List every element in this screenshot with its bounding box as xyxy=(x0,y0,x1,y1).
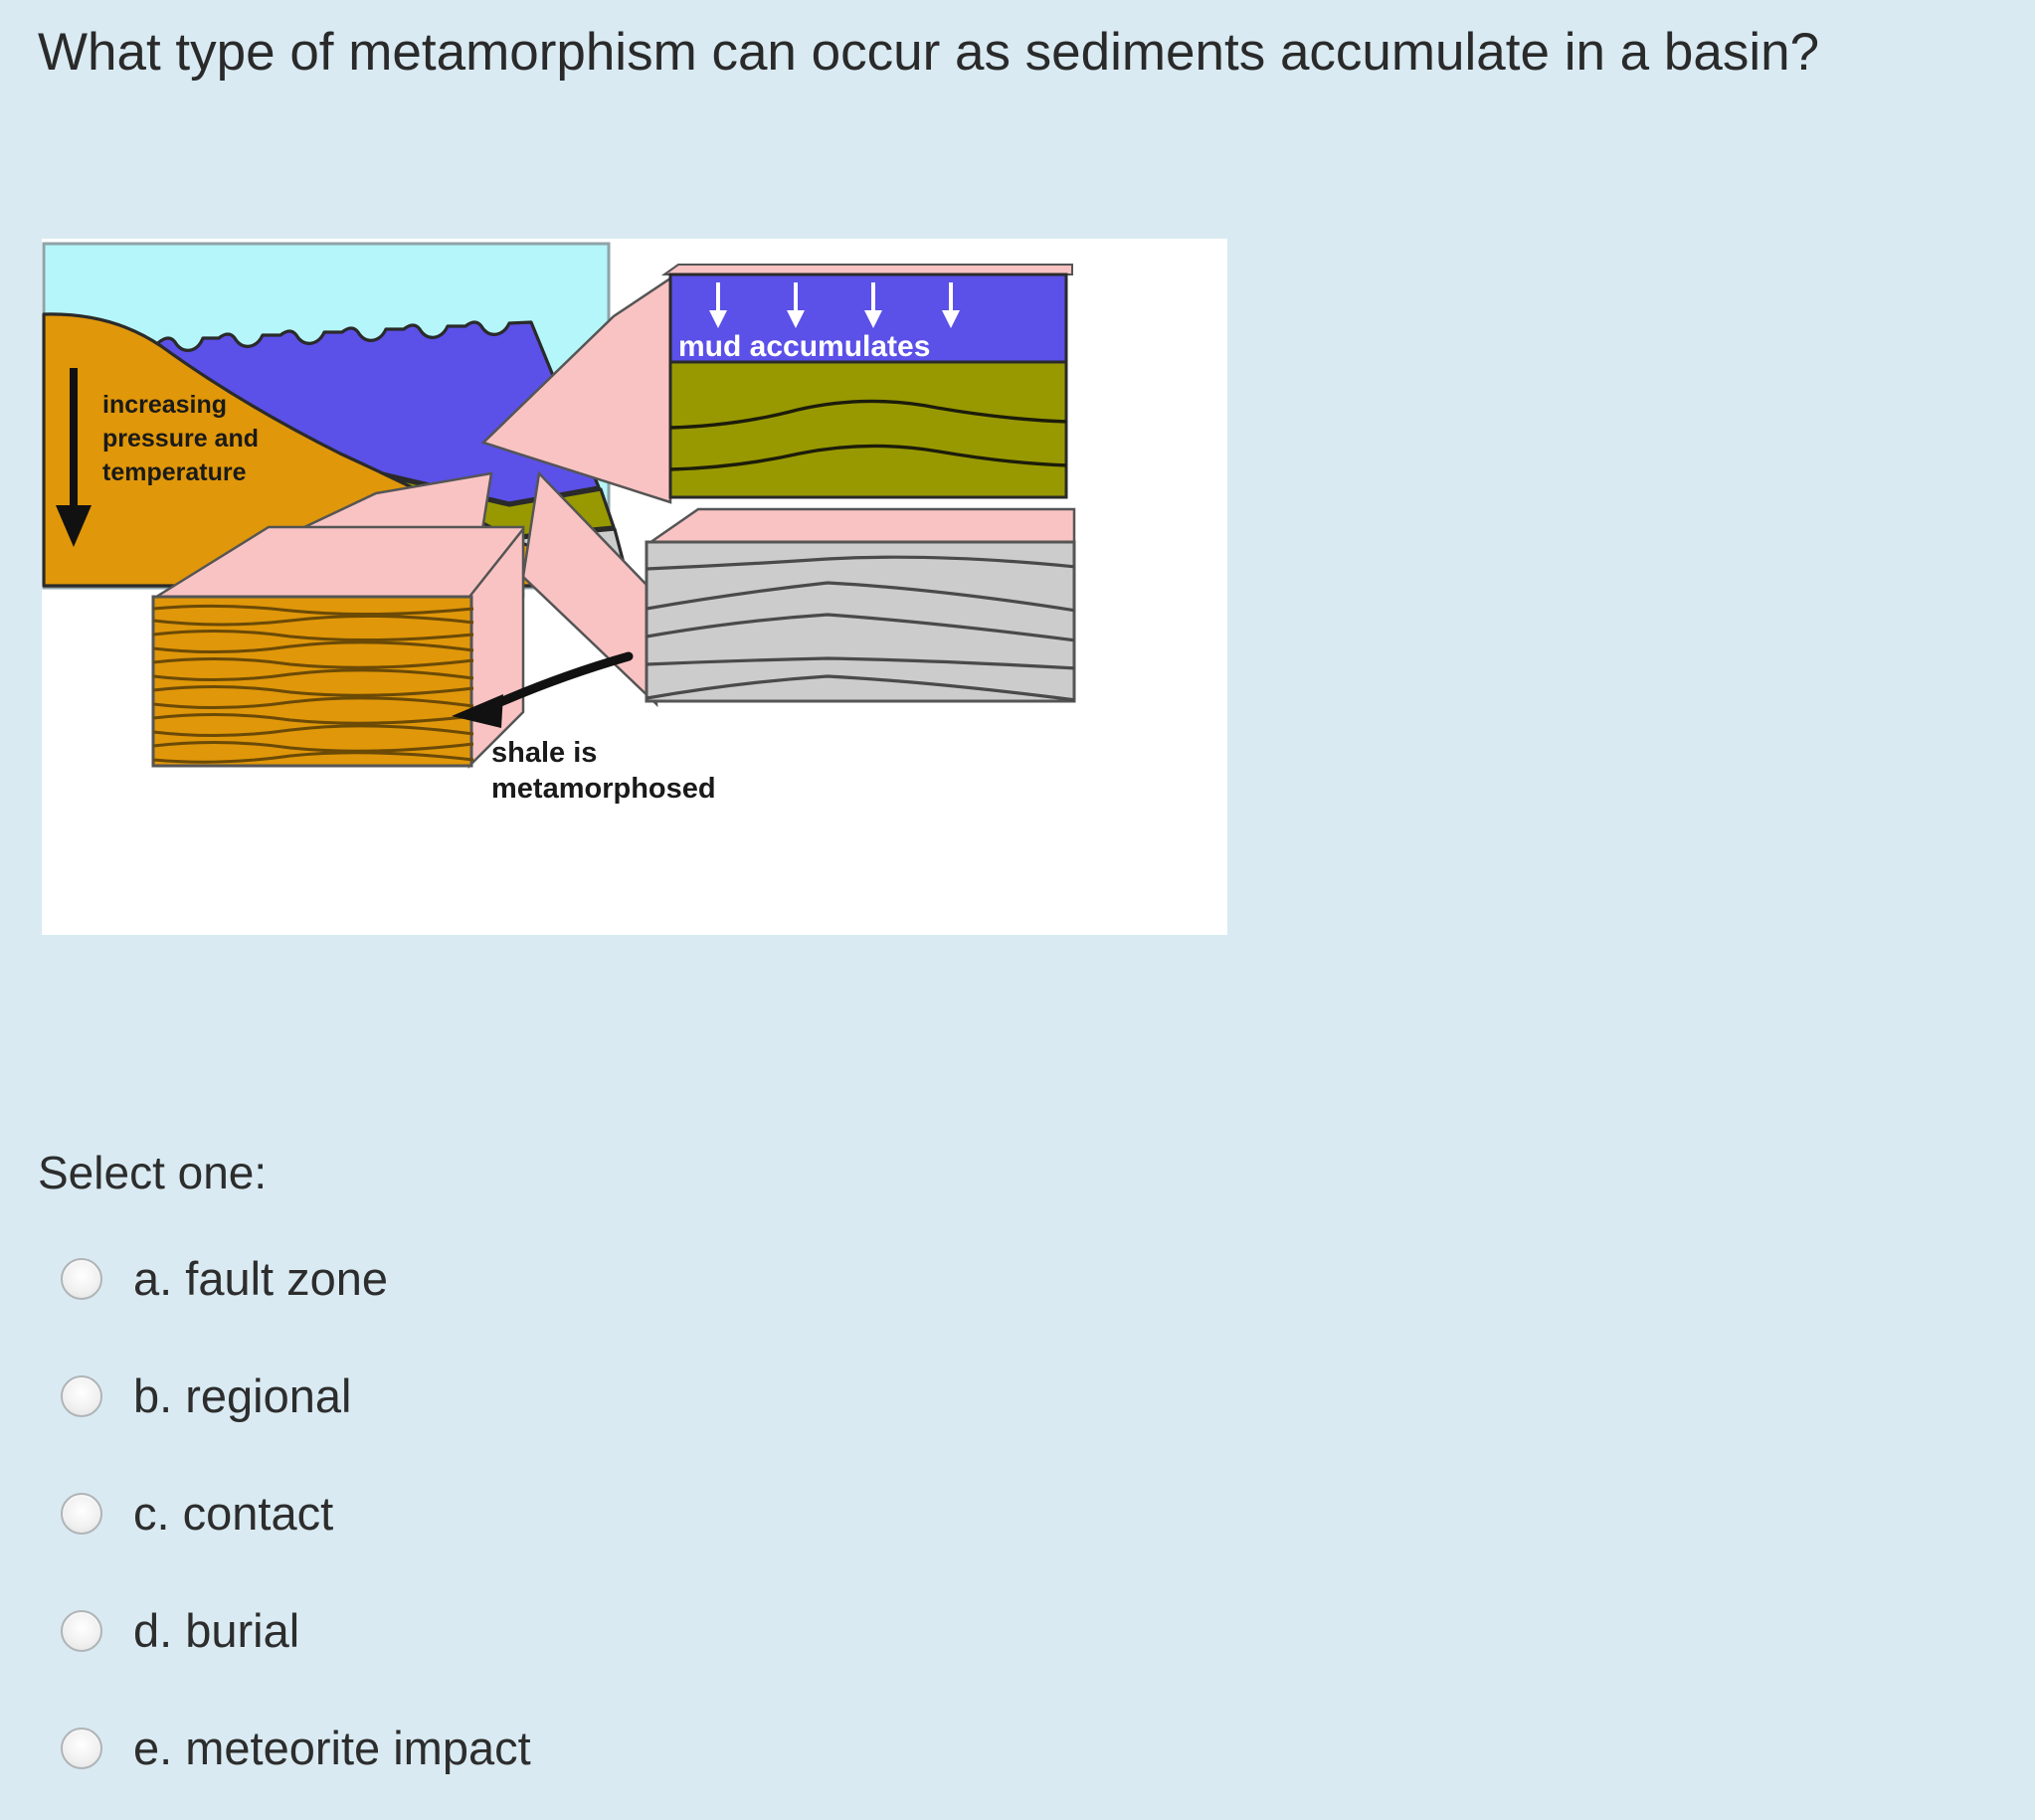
option-row-d[interactable]: d. burial xyxy=(38,1585,1430,1677)
option-row-c[interactable]: c. contact xyxy=(38,1468,1430,1559)
option-label-a[interactable]: a. fault zone xyxy=(133,1253,388,1305)
figure-panel: increasing pressure and temperature xyxy=(42,239,1227,935)
shale-block-top-face xyxy=(647,509,1074,545)
radio-button-a[interactable] xyxy=(61,1258,102,1300)
label-pressure-and: pressure and xyxy=(102,425,259,453)
radio-button-c[interactable] xyxy=(61,1493,102,1535)
option-label-b[interactable]: b. regional xyxy=(133,1370,352,1422)
metamorphic-block-face xyxy=(153,597,471,766)
select-one-label: Select one: xyxy=(38,1146,267,1199)
mud-accumulates-inset: mud accumulates xyxy=(664,265,1072,497)
answer-options-list: a. fault zone b. regional c. contact d. … xyxy=(38,1233,1430,1820)
metamorphosed-block-inset xyxy=(153,527,523,766)
radio-button-b[interactable] xyxy=(61,1375,102,1417)
label-temperature: temperature xyxy=(102,458,247,486)
option-label-d[interactable]: d. burial xyxy=(133,1605,299,1657)
quiz-question-page: What type of metamorphism can occur as s… xyxy=(0,0,2035,1800)
question-text: What type of metamorphism can occur as s… xyxy=(38,22,2007,84)
label-shale-is: shale is xyxy=(491,737,597,769)
label-metamorphosed: metamorphosed xyxy=(491,773,716,805)
label-mud-accumulates: mud accumulates xyxy=(678,330,930,363)
inset-mud-block xyxy=(670,362,1066,497)
burial-metamorphism-diagram: increasing pressure and temperature xyxy=(42,239,1227,935)
radio-button-e[interactable] xyxy=(61,1728,102,1769)
option-row-a[interactable]: a. fault zone xyxy=(38,1233,1430,1325)
label-increasing: increasing xyxy=(102,391,227,419)
option-row-b[interactable]: b. regional xyxy=(38,1351,1430,1442)
option-label-c[interactable]: c. contact xyxy=(133,1488,333,1540)
shale-block-inset xyxy=(647,509,1076,701)
option-label-e[interactable]: e. meteorite impact xyxy=(133,1723,531,1774)
radio-button-d[interactable] xyxy=(61,1610,102,1652)
option-row-e[interactable]: e. meteorite impact xyxy=(38,1703,1430,1794)
